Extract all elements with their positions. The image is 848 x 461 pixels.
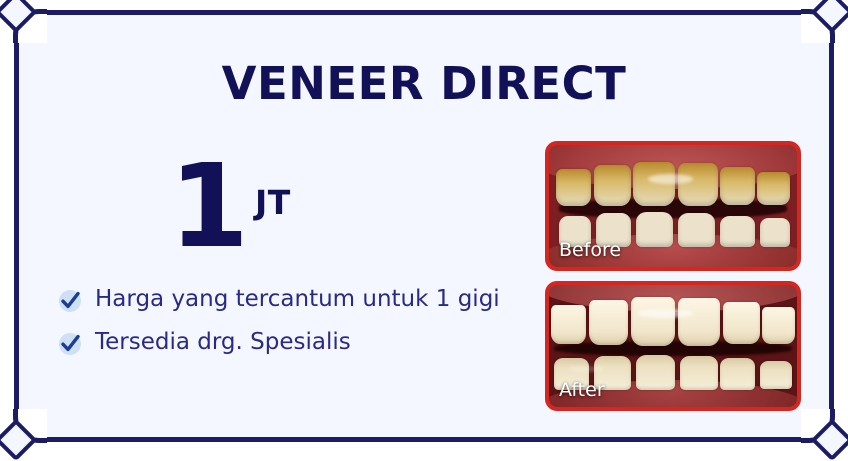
tooth-lower bbox=[760, 361, 792, 389]
tooth-upper bbox=[762, 307, 794, 344]
feature-list: Harga yang tercantum untuk 1 gigi Tersed… bbox=[57, 285, 517, 372]
tooth-lower bbox=[636, 355, 676, 390]
tooth-upper bbox=[723, 302, 760, 343]
tooth-lower bbox=[636, 212, 673, 247]
feature-label: Harga yang tercantum untuk 1 gigi bbox=[95, 285, 500, 314]
feature-label: Tersedia drg. Spesialis bbox=[95, 328, 351, 357]
tooth-upper bbox=[678, 298, 720, 346]
highlight bbox=[638, 309, 693, 318]
tooth-lower bbox=[760, 218, 790, 247]
before-photo-label: Before bbox=[559, 239, 621, 261]
highlight bbox=[648, 174, 693, 184]
after-photo-label: After bbox=[559, 379, 605, 401]
tooth-lower bbox=[720, 358, 755, 390]
oral-cavity-shadow bbox=[559, 199, 787, 219]
tooth-upper bbox=[556, 169, 591, 206]
after-photo: After bbox=[545, 281, 801, 411]
price-block: 1 JT bbox=[169, 155, 291, 261]
tooth-upper bbox=[720, 167, 755, 205]
highlight bbox=[569, 366, 604, 372]
promo-card: VENEER DIRECT 1 JT Harga yang tercantum … bbox=[14, 10, 834, 442]
price-unit: JT bbox=[255, 183, 291, 222]
tooth-upper bbox=[551, 305, 586, 344]
tooth-upper bbox=[633, 162, 675, 206]
tooth-upper bbox=[594, 165, 631, 206]
tooth-upper bbox=[757, 172, 789, 205]
price-amount: 1 bbox=[169, 155, 247, 261]
check-circle-icon bbox=[57, 288, 83, 314]
tooth-upper bbox=[631, 297, 676, 346]
tooth-lower bbox=[678, 213, 715, 247]
tooth-lower bbox=[680, 356, 717, 390]
list-item: Tersedia drg. Spesialis bbox=[57, 328, 517, 357]
page-title: VENEER DIRECT bbox=[19, 57, 829, 110]
tooth-upper bbox=[589, 300, 629, 345]
photo-comparison: Before A bbox=[545, 141, 801, 411]
list-item: Harga yang tercantum untuk 1 gigi bbox=[57, 285, 517, 314]
oral-cavity-shadow bbox=[554, 341, 792, 356]
before-photo: Before bbox=[545, 141, 801, 271]
tooth-lower bbox=[720, 216, 755, 248]
tooth-upper bbox=[678, 163, 718, 206]
check-circle-icon bbox=[57, 331, 83, 357]
